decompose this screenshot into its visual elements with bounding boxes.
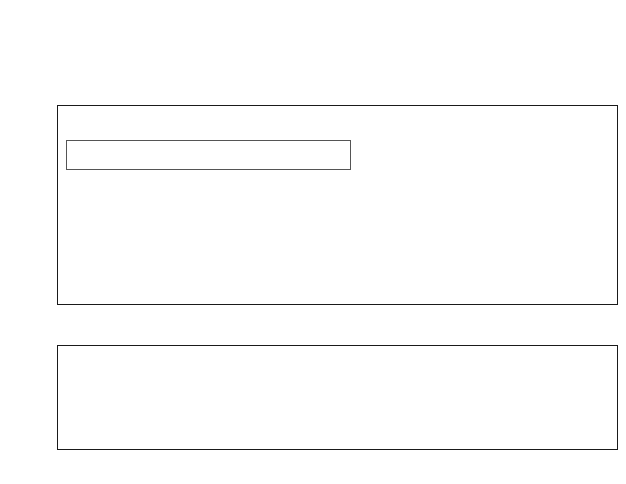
percent-of-crop-box bbox=[66, 140, 351, 170]
daily-precip-plot bbox=[57, 345, 618, 450]
daily-precip-svg bbox=[58, 346, 619, 451]
title-block bbox=[0, 0, 626, 6]
chart-page bbox=[0, 0, 626, 484]
cumulative-precip-svg bbox=[58, 106, 619, 306]
cumulative-precip-plot bbox=[57, 105, 618, 305]
